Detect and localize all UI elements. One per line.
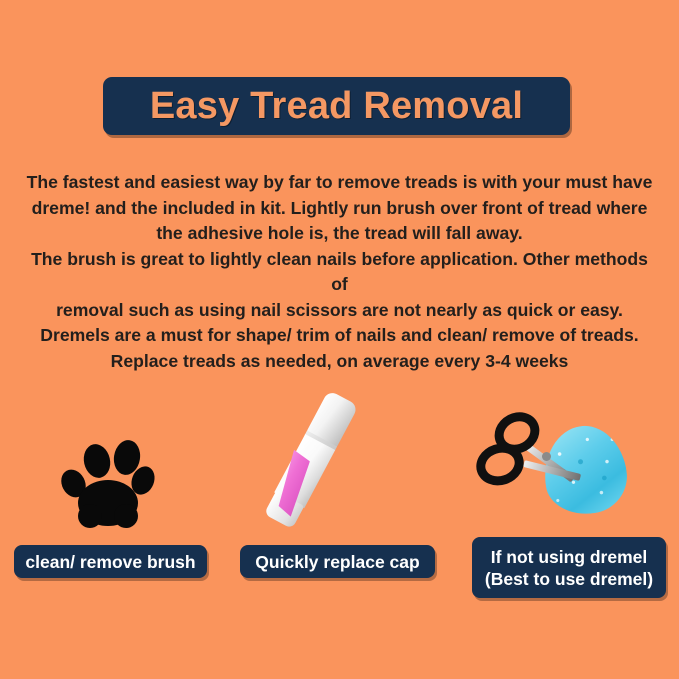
caption-if-not-using-dremel: If not using dremel (Best to use dremel) — [472, 537, 666, 598]
body-line-3: the adhesive hole is, the tread will fal… — [26, 221, 653, 247]
caption-clean-remove-brush: clean/ remove brush — [14, 545, 207, 578]
caption-label-group: If not using dremel (Best to use dremel) — [485, 546, 653, 590]
body-line-7: Replace treads as needed, on average eve… — [26, 349, 653, 375]
page-title: Easy Tread Removal — [150, 85, 523, 128]
caption-label-line-2: (Best to use dremel) — [485, 568, 653, 590]
scissors-and-nail-icon — [480, 408, 650, 530]
paw-toe-pad — [81, 442, 114, 481]
figures-row — [0, 372, 679, 537]
paw-print-icon — [60, 438, 155, 523]
caption-label: clean/ remove brush — [25, 551, 195, 573]
caption-label: Quickly replace cap — [255, 551, 419, 573]
paw-main-pad-lobe — [114, 504, 138, 528]
caption-quickly-replace-cap: Quickly replace cap — [240, 545, 435, 578]
caption-label-line-1: If not using dremel — [491, 547, 648, 567]
scissors-pivot-screw — [542, 452, 551, 461]
infographic-page: Easy Tread Removal The fastest and easie… — [0, 0, 679, 679]
body-paragraph: The fastest and easiest way by far to re… — [26, 170, 653, 374]
body-line-5: removal such as using nail scissors are … — [26, 298, 653, 324]
body-line-4: The brush is great to lightly clean nail… — [26, 247, 653, 298]
title-banner: Easy Tread Removal — [103, 77, 570, 135]
body-line-6: Dremels are a must for shape/ trim of na… — [26, 323, 653, 349]
paw-main-pad-lobe — [78, 504, 102, 528]
body-line-2: dreme! and the included in kit. Lightly … — [26, 196, 653, 222]
adhesive-pen-icon — [265, 380, 415, 532]
body-line-1: The fastest and easiest way by far to re… — [26, 170, 653, 196]
